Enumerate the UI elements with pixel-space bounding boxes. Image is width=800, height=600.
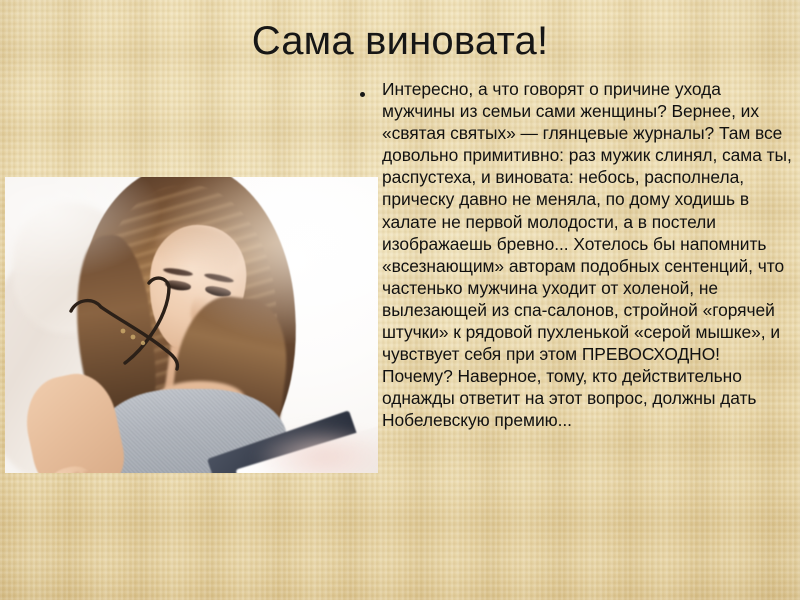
photo-woman-reading	[5, 177, 378, 473]
photo-content	[5, 177, 378, 473]
slide-title: Сама виновата!	[0, 18, 800, 64]
bullet-marker-icon	[360, 78, 382, 100]
bullet-item: Интересно, а что говорят о причине ухода…	[360, 78, 792, 432]
eyeglasses-icon	[63, 269, 193, 389]
slide: Сама виновата!	[0, 0, 800, 600]
bullet-text: Интересно, а что говорят о причине ухода…	[382, 78, 792, 432]
content-body: Интересно, а что говорят о причине ухода…	[360, 78, 792, 432]
photo-foreground-blur	[255, 427, 378, 473]
